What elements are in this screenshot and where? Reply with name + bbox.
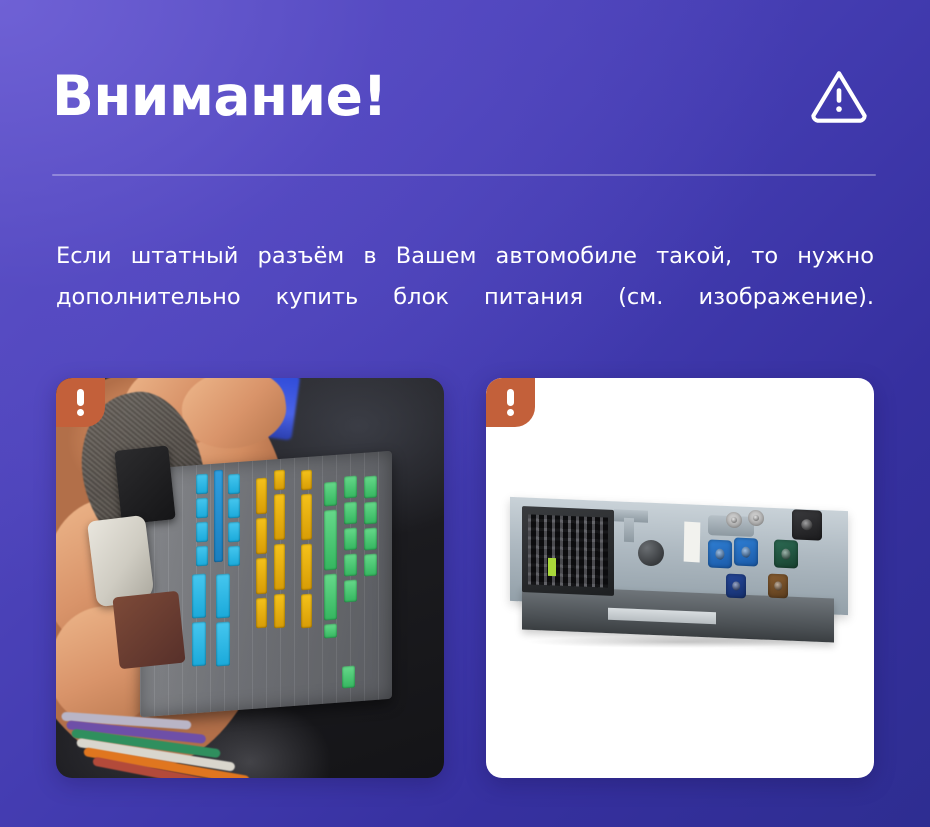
metal-tab: [624, 518, 634, 542]
status-badge: [486, 378, 535, 427]
pin-column-cyan-4: [216, 573, 230, 666]
black-round-connector: [792, 509, 822, 540]
power-supply-photo-card[interactable]: [486, 378, 874, 778]
brown-fakra-connector: [768, 574, 788, 599]
pin-column-green-1: [324, 482, 337, 639]
connector-photo-card[interactable]: [56, 378, 444, 778]
drop-shadow: [526, 636, 826, 648]
body-text: Если штатный разъём в Вашем автомобиле т…: [56, 236, 874, 359]
round-knob: [638, 540, 664, 566]
pin-column-blue: [214, 470, 223, 563]
warning-triangle-icon: [808, 65, 870, 127]
silver-connector: [748, 510, 764, 527]
pin-column-yellow-1: [256, 478, 267, 629]
pin-column-cyan-2: [228, 474, 240, 567]
warranty-sticker: [684, 522, 701, 563]
status-badge: [56, 378, 105, 427]
pin-column-green-2: [344, 476, 357, 603]
pin-column-yellow-3: [301, 470, 312, 629]
header: Внимание!: [52, 48, 876, 144]
pin-column-green-3: [364, 476, 377, 577]
header-divider: [52, 174, 876, 176]
pin-column-green-4: [342, 666, 355, 689]
pin-column-cyan-1: [196, 474, 208, 567]
module-stage: [486, 496, 874, 656]
image-card-group: [56, 378, 874, 778]
power-supply-photo: [486, 378, 874, 778]
wire-harness: [58, 663, 315, 778]
pin-column-cyan-3: [192, 573, 206, 666]
brown-connector-block: [112, 591, 185, 670]
warning-slide: Внимание! Если штатный разъём в Вашем ав…: [0, 0, 930, 827]
exclamation-icon: [77, 389, 84, 416]
connector-photo: [56, 378, 444, 778]
green-fakra-connector: [774, 539, 798, 568]
silver-connector: [726, 512, 742, 529]
blue-fakra-connector: [708, 539, 732, 568]
green-pin-marker: [548, 558, 556, 576]
black-connector-block: [114, 445, 175, 524]
main-black-connector: [522, 506, 614, 596]
exclamation-icon: [507, 389, 514, 416]
pin-column-yellow-2: [274, 470, 285, 629]
blue-fakra-connector: [734, 537, 758, 566]
page-title: Внимание!: [52, 69, 387, 124]
navy-fakra-connector: [726, 574, 746, 599]
